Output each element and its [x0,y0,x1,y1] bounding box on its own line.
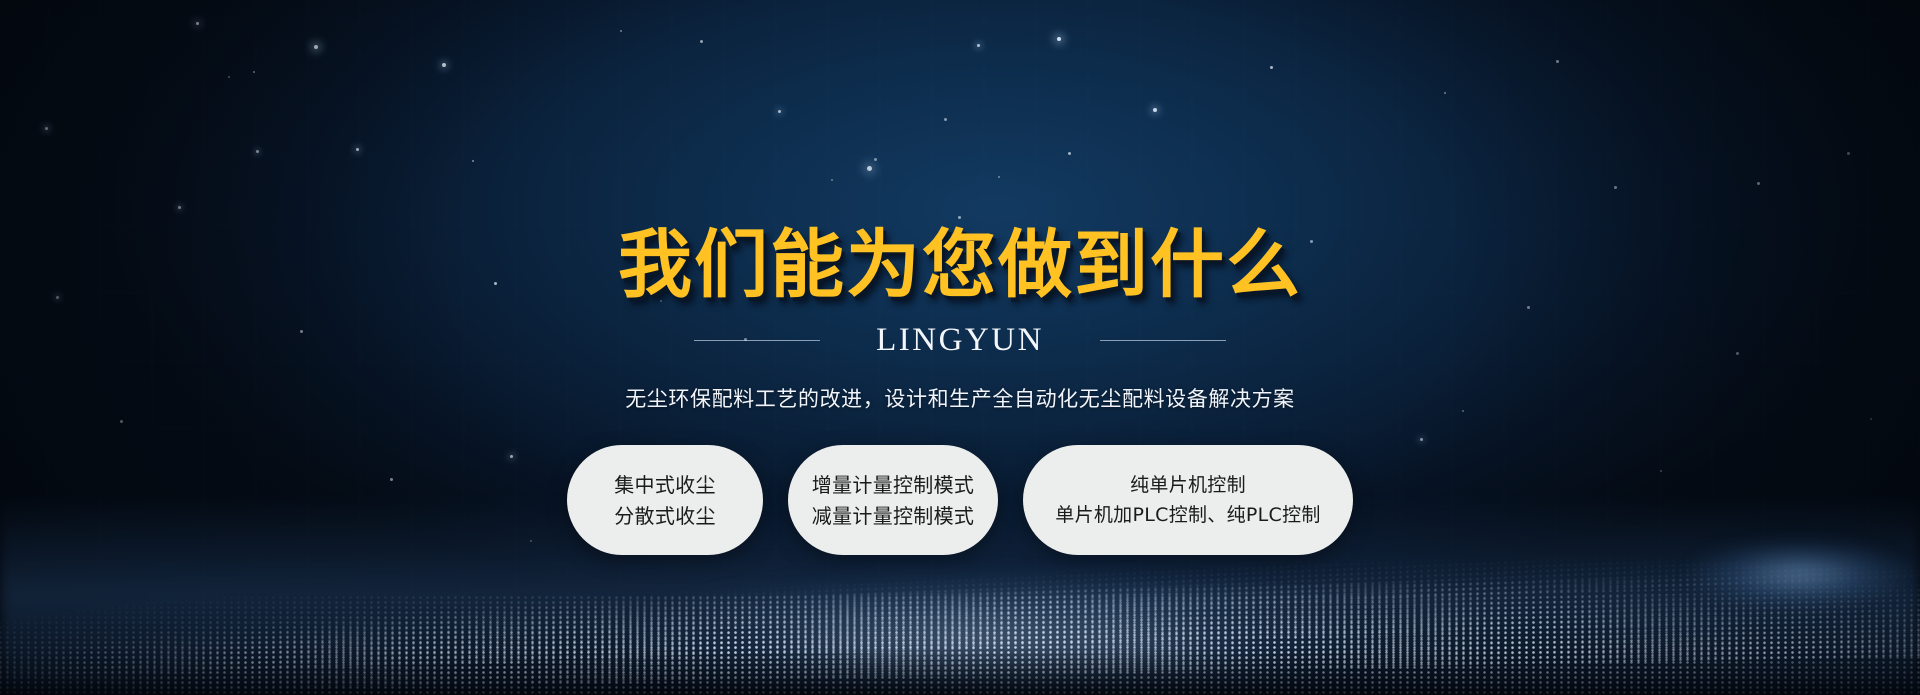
feature-card-dust-collection[interactable]: 集中式收尘 分散式收尘 [567,445,763,555]
feature-card-line-1: 集中式收尘 [614,475,716,495]
divider-right [1100,340,1226,341]
brand-name: LINGYUN [876,324,1044,357]
feature-card-line-1: 纯单片机控制 [1130,476,1246,495]
page-title: 我们能为您做到什么 [618,228,1302,302]
feature-card-control-system[interactable]: 纯单片机控制 单片机加PLC控制、纯PLC控制 [1023,445,1353,555]
feature-card-list: 集中式收尘 分散式收尘 增量计量控制模式 减量计量控制模式 纯单片机控制 单片机… [567,445,1353,555]
divider-left [694,340,820,341]
banner-content: 我们能为您做到什么 LINGYUN 无尘环保配料工艺的改进，设计和生产全自动化无… [0,0,1920,695]
feature-card-line-1: 增量计量控制模式 [812,475,974,495]
tagline: 无尘环保配料工艺的改进，设计和生产全自动化无尘配料设备解决方案 [625,383,1295,413]
brand-row: LINGYUN [0,324,1920,357]
feature-card-metering-mode[interactable]: 增量计量控制模式 减量计量控制模式 [788,445,998,555]
hero-banner: 我们能为您做到什么 LINGYUN 无尘环保配料工艺的改进，设计和生产全自动化无… [0,0,1920,695]
feature-card-line-2: 减量计量控制模式 [812,506,974,526]
feature-card-line-2: 分散式收尘 [614,506,716,526]
feature-card-line-2: 单片机加PLC控制、纯PLC控制 [1055,506,1320,525]
